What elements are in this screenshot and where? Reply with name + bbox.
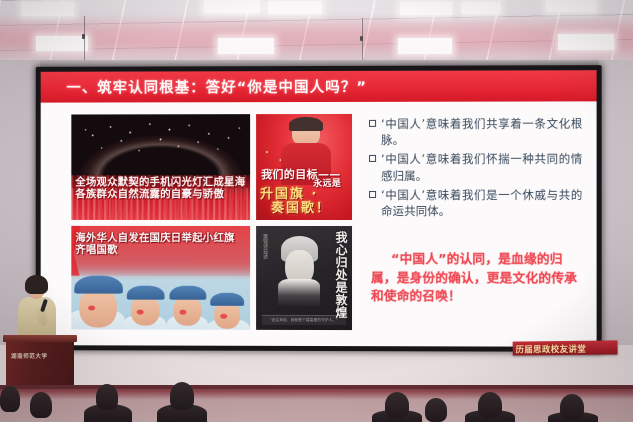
flag-reflection: [137, 309, 144, 314]
poster-slogan-a: 升国旗 ·: [260, 187, 318, 202]
square-bullet-icon: [369, 155, 376, 162]
athlete-hair: [289, 117, 323, 132]
ceiling-light-panel: [22, 2, 74, 16]
ceiling-light-panel: [268, 1, 322, 14]
caption-line-2: 各族群众自然流露的自豪与骄傲: [75, 188, 248, 200]
square-bullet-icon: [369, 191, 376, 198]
square-bullet-icon: [369, 120, 376, 127]
ceiling-light-panel: [400, 2, 452, 15]
photo-collage: 全场观众默契的手机闪光灯汇成星海 各族群众自然流露的自豪与骄傲: [71, 114, 352, 330]
wall-right: [598, 60, 633, 380]
stage-front-edge: [0, 385, 633, 389]
flag-reflection: [220, 313, 227, 318]
presentation-slide: 一、筑牢认同根基：答好“你是中国人吗？” 全场观众默契的手机闪光灯汇成星海 各族…: [41, 70, 597, 347]
person-face: [173, 295, 201, 325]
ceiling-light-panel: [462, 2, 500, 14]
photo-caption-overseas: 海外华人自发在国庆日举起小红旗 齐唱国歌: [75, 232, 248, 257]
venue-name-label: 湖南师范大学: [11, 352, 48, 360]
audience-head: [96, 384, 118, 410]
ceiling-light-panel: [218, 38, 274, 54]
portrait-figure: [277, 236, 321, 305]
slide-title-bar: 一、筑牢认同根基：答好“你是中国人吗？”: [41, 70, 597, 102]
audience-head: [170, 382, 194, 410]
poster-slogan-b: 奏国歌！: [260, 202, 351, 216]
person-cap: [210, 292, 244, 305]
book-side-text: 樊锦诗自述: [262, 234, 268, 259]
bullet-item: ‘中国人’意味着我们共享着一条文化根脉。: [369, 115, 582, 148]
caption-line-2: 齐唱国歌: [75, 244, 248, 256]
bullet-list: ‘中国人’意味着我们共享着一条文化根脉。 ‘中国人’意味着我们怀揣一种共同的情感…: [369, 115, 582, 222]
audience-head: [478, 392, 502, 418]
slide-conclusion-text: “中国人”的认同，是血缘的归属，是身份的确认，更是文化的传承和使命的召唤！: [371, 250, 584, 306]
person-cap: [74, 275, 123, 293]
event-banner: 历届思政校友讲堂: [513, 340, 618, 355]
bullet-text: ‘中国人’意味着我们怀揣一种共同的情感归属。: [381, 151, 582, 184]
ceiling-light-panel: [204, 0, 260, 13]
ceiling-wire: [84, 16, 85, 62]
audience-head: [0, 386, 20, 412]
crowd-with-blue-caps: [71, 265, 250, 330]
book-bottom-caption: “此生命定，我就是个莫高窟的守护人。”: [262, 315, 346, 325]
audience-head: [560, 394, 584, 420]
portrait-collar: [278, 279, 320, 307]
ceiling: [0, 0, 633, 62]
caption-line-1: 海外华人自发在国庆日举起小红旗: [75, 232, 248, 244]
audience-head: [385, 392, 409, 418]
book-title-vertical: 我心归处是敦煌: [332, 231, 347, 319]
person-face: [131, 295, 160, 325]
audience-head: [30, 392, 52, 418]
speaker-hair: [25, 275, 48, 294]
person-face: [214, 301, 240, 328]
bullet-text: ‘中国人’意味着我们共享着一条文化根脉。: [381, 115, 582, 148]
photo-athlete-poster: 我们的目标—— 永远是 升国旗 · 奏国歌！: [256, 114, 352, 220]
lecture-hall-photo: 一、筑牢认同根基：答好“你是中国人吗？” 全场观众默契的手机闪光灯汇成星海 各族…: [0, 0, 633, 422]
bullet-item: ‘中国人’意味着我们是一个休戚与共的命运共同体。: [369, 187, 582, 220]
slide-title: 一、筑牢认同根基：答好“你是中国人吗？”: [66, 76, 367, 98]
bullet-text: ‘中国人’意味着我们是一个休戚与共的命运共同体。: [381, 187, 582, 220]
caption-line-1: 全场观众默契的手机闪光灯汇成星海: [75, 176, 248, 188]
led-screen-bezel: 一、筑牢认同根基：答好“你是中国人吗？” 全场观众默契的手机闪光灯汇成星海 各族…: [36, 65, 602, 352]
ceiling-light-panel: [36, 36, 88, 51]
ceiling-light-panel: [398, 38, 452, 54]
photo-dunhuang-book-cover: 樊锦诗自述 我心归处是敦煌 “此生命定，我就是个莫高窟的守护人。”: [256, 226, 352, 330]
flag-reflection: [179, 309, 186, 314]
phone-flashlight-sparkles: [71, 114, 250, 184]
ceiling-red-glow: [0, 14, 633, 62]
slide-body: 全场观众默契的手机闪光灯汇成星海 各族群众自然流露的自豪与骄傲: [41, 101, 597, 346]
ceiling-light-panel: [546, 0, 596, 12]
poster-slogan: 升国旗 · 奏国歌！: [260, 188, 351, 216]
sprinkler-head: [360, 36, 363, 41]
photo-stadium-flashlights: 全场观众默契的手机闪光灯汇成星海 各族群众自然流露的自豪与骄傲: [71, 114, 250, 220]
person-cap: [127, 285, 165, 299]
person-cap: [169, 285, 206, 299]
photo-overseas-chinese: 海外华人自发在国庆日举起小红旗 齐唱国歌: [71, 226, 250, 330]
photo-caption-stadium: 全场观众默契的手机闪光灯汇成星海 各族群众自然流露的自豪与骄傲: [75, 176, 248, 201]
flag-reflection: [88, 305, 95, 310]
ceiling-light-panel: [558, 34, 614, 50]
lectern-top: [3, 335, 77, 342]
bullet-item: ‘中国人’意味着我们怀揣一种共同的情感归属。: [369, 151, 582, 184]
event-banner-text: 历届思政校友讲堂: [516, 343, 587, 356]
sprinkler-head: [82, 34, 85, 39]
audience-head: [425, 398, 447, 422]
